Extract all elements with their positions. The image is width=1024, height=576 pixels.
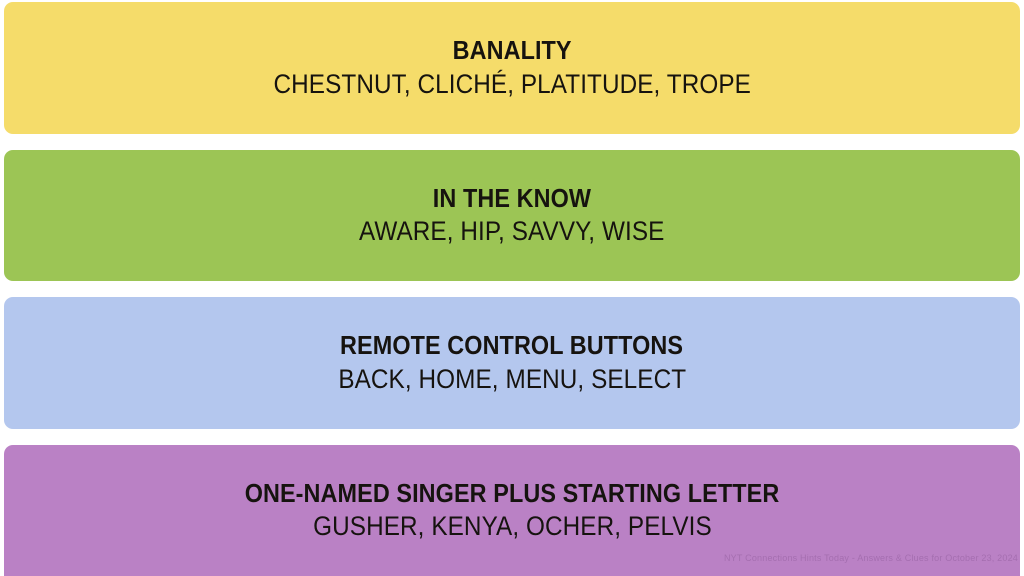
category-members: AWARE, HIP, SAVVY, WISE	[359, 215, 664, 247]
category-title: REMOTE CONTROL BUTTONS	[340, 330, 683, 361]
category-title: BANALITY	[452, 35, 571, 66]
category-members: GUSHER, KENYA, OCHER, PELVIS	[313, 510, 712, 542]
connections-answers-board: BANALITY CHESTNUT, CLICHÉ, PLATITUDE, TR…	[0, 0, 1024, 566]
category-title: ONE-NAMED SINGER PLUS STARTING LETTER	[245, 478, 780, 509]
category-members: BACK, HOME, MENU, SELECT	[338, 363, 686, 395]
category-card-green[interactable]: IN THE KNOW AWARE, HIP, SAVVY, WISE	[4, 150, 1020, 282]
category-card-blue[interactable]: REMOTE CONTROL BUTTONS BACK, HOME, MENU,…	[4, 297, 1020, 429]
category-title: IN THE KNOW	[433, 183, 591, 214]
category-members: CHESTNUT, CLICHÉ, PLATITUDE, TROPE	[273, 68, 750, 100]
category-card-purple[interactable]: ONE-NAMED SINGER PLUS STARTING LETTER GU…	[4, 445, 1020, 576]
category-card-yellow[interactable]: BANALITY CHESTNUT, CLICHÉ, PLATITUDE, TR…	[4, 2, 1020, 134]
